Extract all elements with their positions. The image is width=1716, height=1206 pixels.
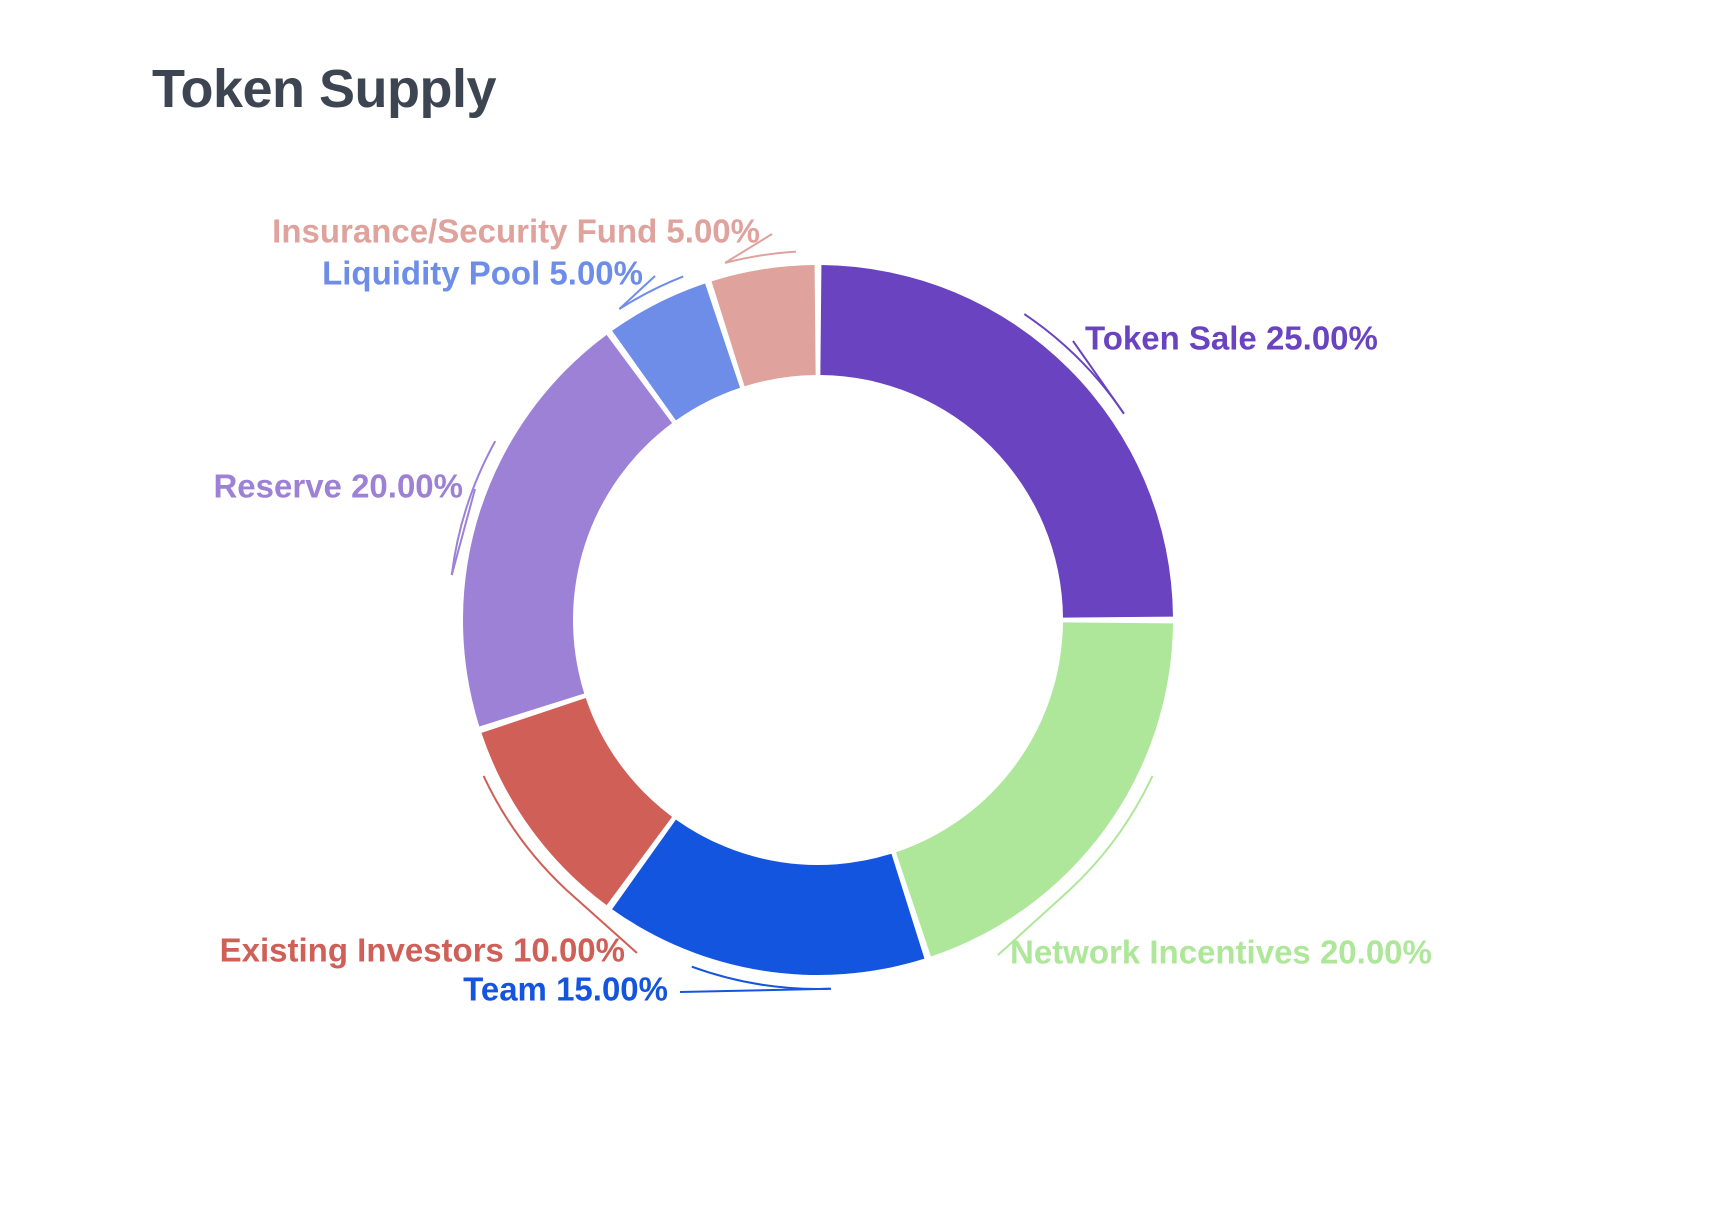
donut-slices bbox=[463, 265, 1173, 975]
donut-chart-svg: Token Sale 25.00%Network Incentives 20.0… bbox=[0, 0, 1716, 1206]
slice-label: Token Sale 25.00% bbox=[1085, 320, 1378, 357]
slice-label: Team 15.00% bbox=[463, 971, 668, 1008]
donut-slice[interactable] bbox=[820, 265, 1173, 618]
donut-slice[interactable] bbox=[612, 820, 924, 975]
leader-line bbox=[680, 989, 831, 992]
donut-slice[interactable] bbox=[463, 335, 672, 727]
slice-label: Existing Investors 10.00% bbox=[220, 932, 625, 969]
slice-label: Insurance/Security Fund 5.00% bbox=[272, 213, 760, 250]
slice-label: Liquidity Pool 5.00% bbox=[322, 255, 643, 292]
donut-chart-canvas: Token Supply Token Sale 25.00%Network In… bbox=[0, 0, 1716, 1206]
donut-slice[interactable] bbox=[896, 622, 1173, 956]
slice-label: Network Incentives 20.00% bbox=[1010, 934, 1432, 971]
slice-label: Reserve 20.00% bbox=[213, 468, 463, 505]
